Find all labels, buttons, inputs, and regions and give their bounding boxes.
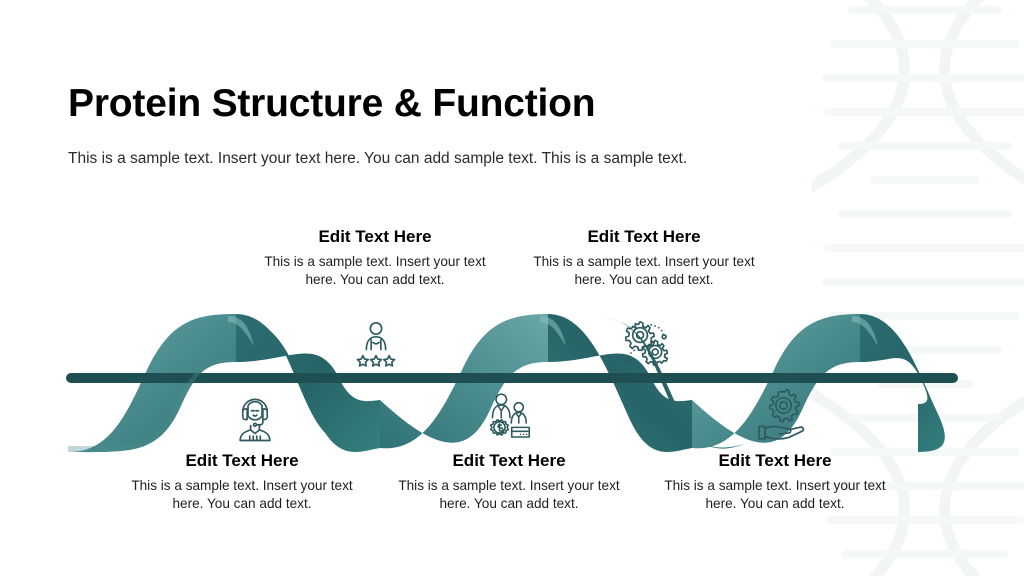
callout-body: This is a sample text. Insert your text … [660, 477, 890, 513]
callout-body: This is a sample text. Insert your text … [127, 477, 357, 513]
headset-support-agent-icon [227, 388, 283, 444]
callout-body: This is a sample text. Insert your text … [394, 477, 624, 513]
page-subtitle: This is a sample text. Insert your text … [68, 150, 687, 168]
callout-title: Edit Text Here [529, 226, 759, 247]
callout-node-1: Edit Text Here This is a sample text. In… [127, 450, 357, 513]
ribbon-front-overlap [68, 358, 236, 452]
two-gears-network-icon [616, 318, 672, 374]
business-people-money-gear-icon [482, 388, 538, 444]
callout-title: Edit Text Here [660, 450, 890, 471]
person-three-stars-rating-icon [348, 318, 404, 374]
page-title: Protein Structure & Function [68, 82, 595, 126]
callout-node-2: Edit Text Here This is a sample text. In… [260, 226, 490, 289]
callout-node-5: Edit Text Here This is a sample text. In… [660, 450, 890, 513]
callout-title: Edit Text Here [127, 450, 357, 471]
callout-node-3: Edit Text Here This is a sample text. In… [394, 450, 624, 513]
ribbon-twist-highlights [228, 316, 878, 346]
callout-node-4: Edit Text Here This is a sample text. In… [529, 226, 759, 289]
hand-holding-gear-icon [752, 388, 808, 444]
callout-body: This is a sample text. Insert your text … [260, 253, 490, 289]
callout-title: Edit Text Here [260, 226, 490, 247]
horizontal-axis-bar [66, 373, 958, 383]
callout-body: This is a sample text. Insert your text … [529, 253, 759, 289]
slide-canvas: Protein Structure & Function This is a s… [0, 0, 1024, 576]
ribbon-lower-lobes [68, 318, 236, 452]
callout-title: Edit Text Here [394, 450, 624, 471]
